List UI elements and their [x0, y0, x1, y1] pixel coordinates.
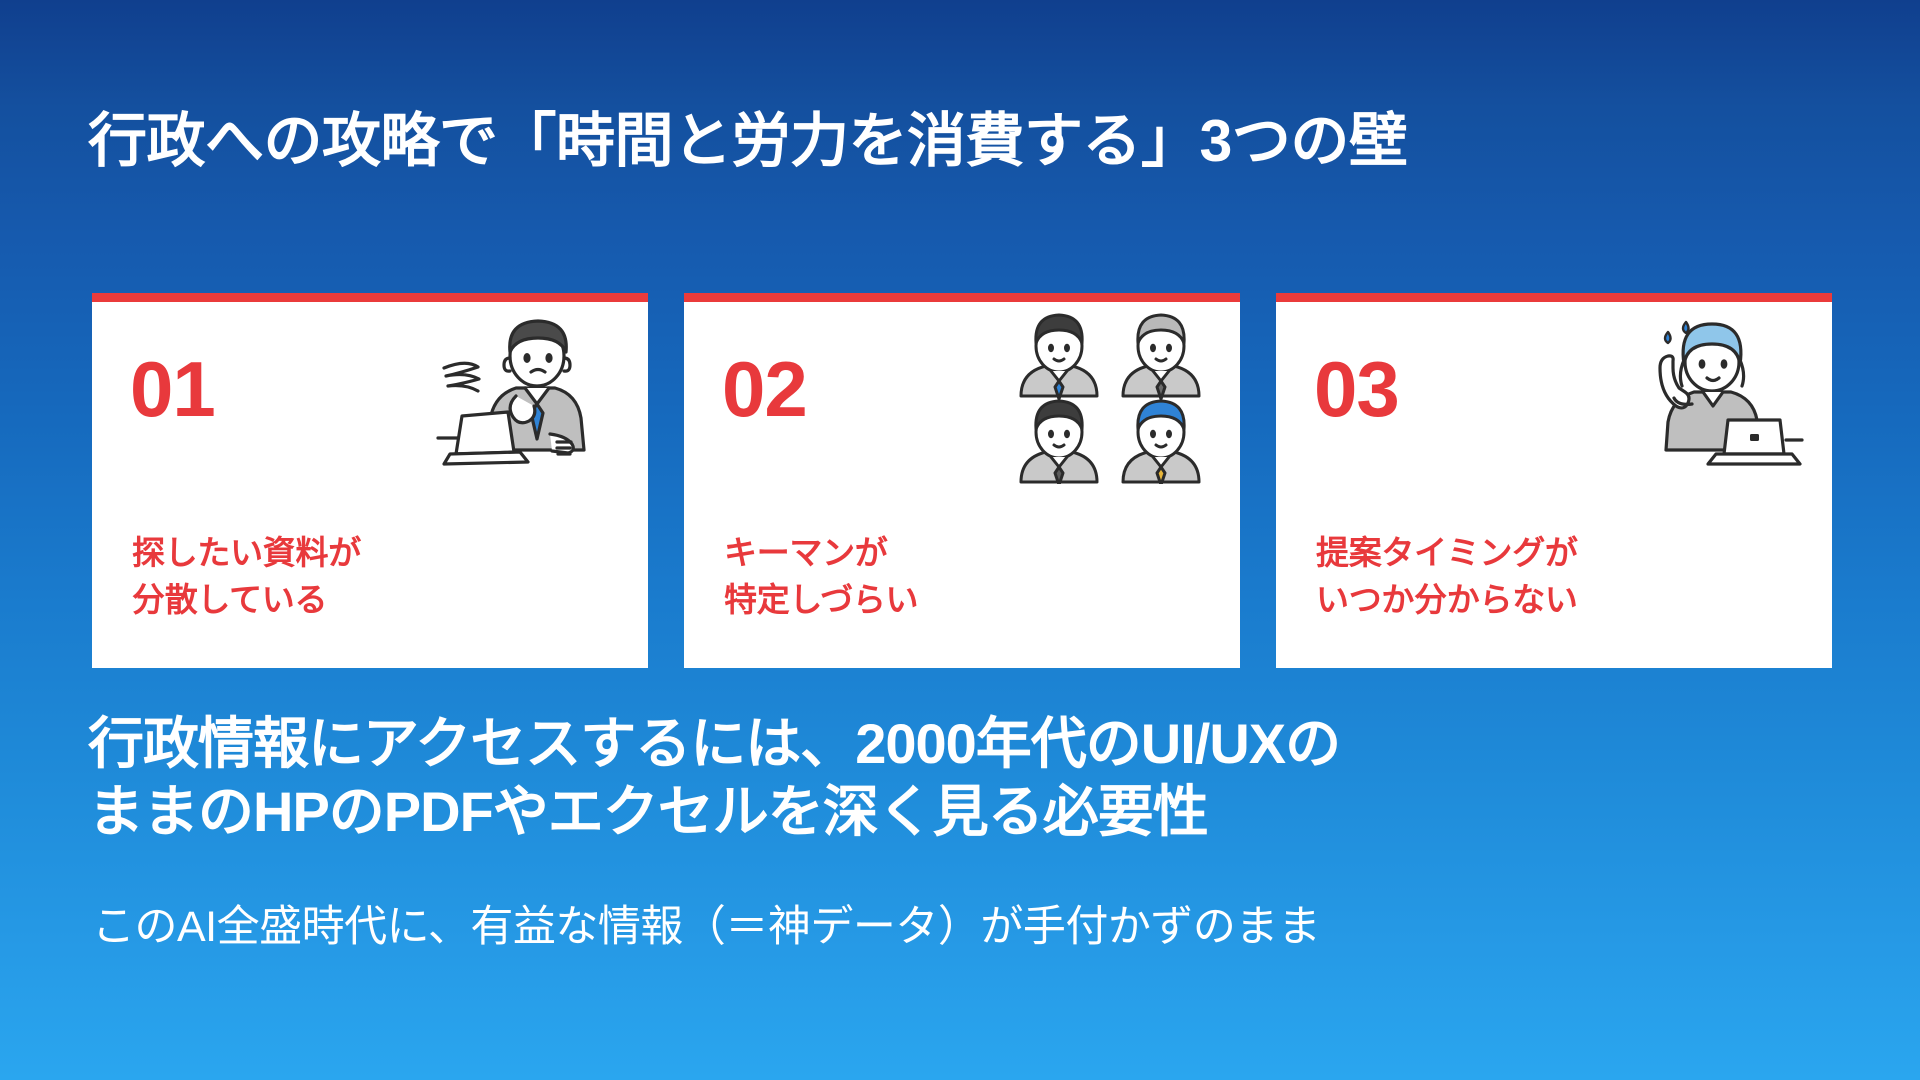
four-people-avatars-icon [1003, 306, 1218, 484]
problem-card-03[interactable]: 03 [1276, 293, 1832, 668]
card-number-01: 01 [130, 350, 215, 428]
sub-headline: このAI全盛時代に、有益な情報（＝神データ）が手付かずのまま [92, 900, 1872, 956]
card-number-02: 02 [722, 350, 807, 428]
slide-canvas: 行政への攻略で「時間と労力を消費する」3つの壁 01 [0, 0, 1920, 1080]
main-headline: 行政情報にアクセスするには、2000年代のUI/UXの ままのHPのPDFやエク… [88, 710, 1868, 847]
worried-woman-on-phone-at-laptop-icon [1608, 312, 1818, 482]
problem-card-02[interactable]: 02 [684, 293, 1240, 668]
page-title: 行政への攻略で「時間と労力を消費する」3つの壁 [88, 108, 1848, 174]
problem-cards-row: 01 [92, 293, 1832, 668]
card-caption-02: キーマンが 特定しづらい [724, 530, 918, 624]
problem-card-01[interactable]: 01 [92, 293, 648, 668]
businessman-thinking-at-laptop-icon [424, 312, 634, 482]
card-caption-03: 提案タイミングが いつか分からない [1316, 530, 1578, 624]
card-number-03: 03 [1314, 350, 1399, 428]
card-caption-01: 探したい資料が 分散している [132, 530, 361, 624]
